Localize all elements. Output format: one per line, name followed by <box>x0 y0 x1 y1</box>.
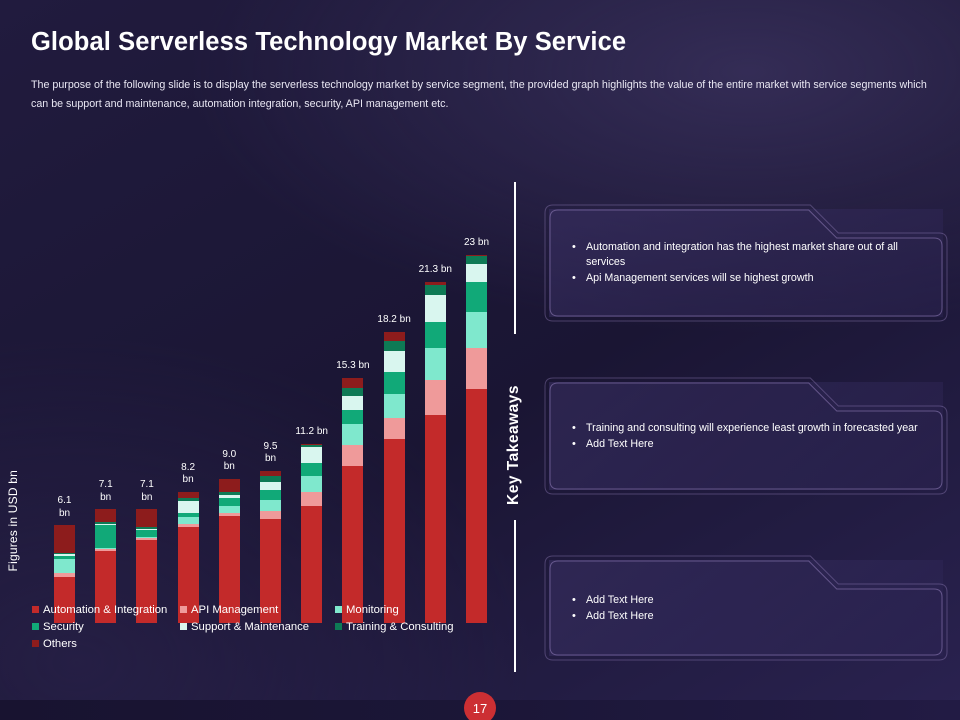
bar-segment <box>425 322 446 348</box>
bar-stack <box>466 255 487 623</box>
bar-group: 15.3 bn <box>332 360 373 623</box>
legend-item[interactable]: Automation & Integration <box>32 601 180 618</box>
takeaway-card-body: •Automation and integration has the high… <box>572 205 925 321</box>
bar-segment <box>301 476 322 492</box>
page-subtitle: The purpose of the following slide is to… <box>31 76 933 114</box>
bar-segment <box>219 498 240 506</box>
bar-value-label: 9.5 bn <box>264 441 278 466</box>
takeaway-bullet: •Add Text Here <box>572 593 925 608</box>
bar-stack <box>384 332 405 624</box>
legend-label: API Management <box>191 604 278 616</box>
bar-segment <box>384 341 405 351</box>
bar-segment <box>425 285 446 295</box>
slide-header: Global Serverless Technology Market By S… <box>0 0 960 120</box>
bar-segment <box>342 445 363 466</box>
takeaway-bullet: •Api Management services will se highest… <box>572 271 925 286</box>
legend-label: Support & Maintenance <box>191 621 309 633</box>
bar-segment <box>466 389 487 623</box>
bar-segment <box>384 351 405 372</box>
bar-group: 9.0 bn <box>209 449 250 623</box>
bar-segment <box>425 415 446 623</box>
bar-segment <box>466 312 487 347</box>
legend-swatch-icon <box>335 623 342 630</box>
bar-segment <box>466 348 487 390</box>
bar-segment <box>301 463 322 476</box>
takeaway-bullet-text: Training and consulting will experience … <box>586 421 925 436</box>
legend-item[interactable]: Support & Maintenance <box>180 618 335 635</box>
bar-segment <box>260 482 281 490</box>
bar-segment <box>384 332 405 342</box>
bar-segment <box>342 424 363 445</box>
bar-segment <box>384 372 405 394</box>
bar-segment <box>384 394 405 418</box>
bar-segment <box>178 501 199 512</box>
legend-label: Security <box>43 621 84 633</box>
bar-segment <box>384 418 405 439</box>
takeaway-bullet-text: Add Text Here <box>586 437 925 452</box>
bar-value-label: 23 bn <box>464 237 489 250</box>
legend-item[interactable]: Security <box>32 618 180 635</box>
legend-swatch-icon <box>32 640 39 647</box>
bar-group: 11.2 bn <box>291 426 332 623</box>
bar-value-label: 18.2 bn <box>377 314 410 327</box>
takeaway-bullet-text: Add Text Here <box>586 609 925 624</box>
legend-item[interactable]: Monitoring <box>335 601 492 618</box>
bar-group: 21.3 bn <box>415 264 456 623</box>
legend-item[interactable]: Training & Consulting <box>335 618 492 635</box>
takeaway-bullet-text: Automation and integration has the highe… <box>586 240 925 269</box>
takeaway-card-body: •Add Text Here•Add Text Here <box>572 556 925 660</box>
bar-segment <box>466 256 487 264</box>
bullet-dot-icon: • <box>572 593 586 608</box>
page-number-badge: 17 <box>464 692 496 720</box>
takeaway-bullet: •Add Text Here <box>572 437 925 452</box>
bullet-dot-icon: • <box>572 437 586 452</box>
takeaway-card[interactable]: •Training and consulting will experience… <box>545 378 947 494</box>
bar-segment <box>95 525 116 547</box>
bar-segment <box>425 348 446 380</box>
bar-segment <box>342 388 363 396</box>
bar-value-label: 7.1 bn <box>140 479 154 504</box>
bar-value-label: 11.2 bn <box>295 426 328 439</box>
legend-swatch-icon <box>32 623 39 630</box>
legend-item[interactable]: Others <box>32 635 180 652</box>
bar-segment <box>301 447 322 463</box>
bar-segment <box>136 509 157 527</box>
bar-segment <box>342 466 363 623</box>
bar-segment <box>54 559 75 573</box>
bar-value-label: 8.2 bn <box>181 462 195 487</box>
legend-label: Automation & Integration <box>43 604 167 616</box>
bar-value-label: 15.3 bn <box>336 360 369 373</box>
bar-segment <box>342 410 363 424</box>
chart-legend: Automation & IntegrationAPI ManagementMo… <box>32 601 492 652</box>
bar-stack <box>301 444 322 623</box>
bar-segment <box>219 479 240 492</box>
legend-label: Monitoring <box>346 604 399 616</box>
takeaway-card[interactable]: •Automation and integration has the high… <box>545 205 947 321</box>
takeaway-rail-top <box>514 182 516 334</box>
bar-value-label: 21.3 bn <box>419 264 452 277</box>
legend-swatch-icon <box>180 623 187 630</box>
bar-segment <box>260 511 281 519</box>
bar-segment <box>425 380 446 415</box>
bar-segment <box>384 439 405 623</box>
takeaway-card[interactable]: •Add Text Here•Add Text Here <box>545 556 947 660</box>
y-axis-title: Figures in USD bn <box>6 470 20 571</box>
bar-segment <box>260 490 281 500</box>
bar-stack <box>342 378 363 623</box>
takeaway-bullet: •Add Text Here <box>572 609 925 624</box>
bar-segment <box>466 264 487 282</box>
bullet-dot-icon: • <box>572 421 586 436</box>
takeaway-bullet-text: Api Management services will se highest … <box>586 271 925 286</box>
legend-swatch-icon <box>32 606 39 613</box>
legend-label: Others <box>43 638 77 650</box>
stacked-bar-chart: Figures in USD bn 6.1 bn7.1 bn7.1 bn8.2 … <box>0 170 500 660</box>
bar-value-label: 6.1 bn <box>58 495 72 520</box>
bar-segment <box>342 378 363 388</box>
bullet-dot-icon: • <box>572 240 586 255</box>
legend-label: Training & Consulting <box>346 621 454 633</box>
bar-segment <box>425 295 446 322</box>
takeaway-card-body: •Training and consulting will experience… <box>572 378 925 494</box>
bar-stack <box>425 282 446 623</box>
bar-segment <box>342 396 363 410</box>
bar-value-label: 7.1 bn <box>99 479 113 504</box>
takeaway-bullet: •Training and consulting will experience… <box>572 421 925 436</box>
bar-group: 18.2 bn <box>374 314 415 623</box>
legend-item[interactable]: API Management <box>180 601 335 618</box>
bar-segment <box>466 282 487 312</box>
bar-group: 23 bn <box>456 237 497 623</box>
bar-group: 9.5 bn <box>250 441 291 623</box>
bar-value-label: 9.0 bn <box>222 449 236 474</box>
takeaway-bullet-text: Add Text Here <box>586 593 925 608</box>
bullet-dot-icon: • <box>572 271 586 286</box>
key-takeaways-title: Key Takeaways <box>505 385 523 505</box>
bar-segment <box>95 509 116 522</box>
legend-swatch-icon <box>180 606 187 613</box>
bar-group: 8.2 bn <box>168 462 209 623</box>
bar-segment <box>260 500 281 511</box>
bar-segment <box>54 525 75 552</box>
takeaway-rail-bottom <box>514 520 516 672</box>
bullet-dot-icon: • <box>572 609 586 624</box>
bar-segment <box>301 492 322 506</box>
legend-swatch-icon <box>335 606 342 613</box>
page-title: Global Serverless Technology Market By S… <box>31 28 626 57</box>
chart-plot-area: 6.1 bn7.1 bn7.1 bn8.2 bn9.0 bn9.5 bn11.2… <box>33 245 485 623</box>
takeaway-bullet: •Automation and integration has the high… <box>572 240 925 269</box>
